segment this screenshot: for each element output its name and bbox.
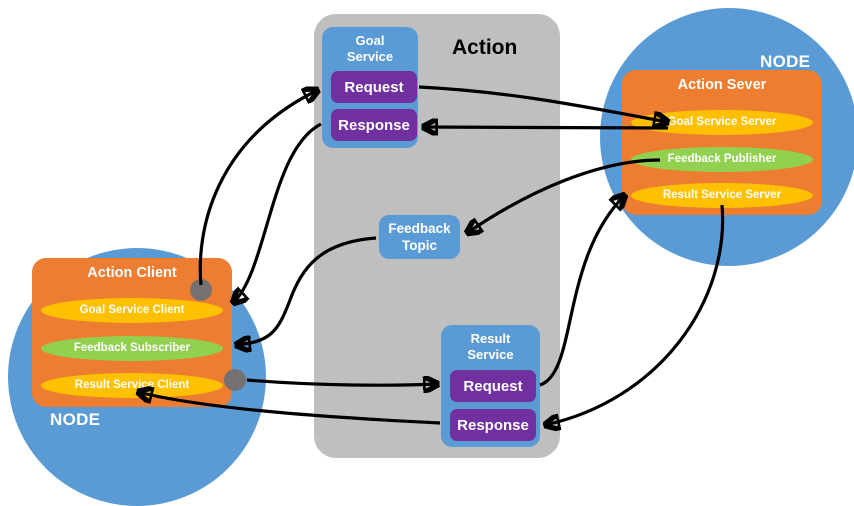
feedback-publisher-pill[interactable]: Feedback Publisher [631,147,813,172]
feedback-topic-line2: Topic [402,238,437,253]
action-server-node-label: NODE [760,52,810,72]
goal-service-request[interactable]: Request [331,71,417,103]
goal-service-title-line1: Goal [356,33,385,48]
result-service-title: Result Service [441,331,540,363]
action-server-title: Action Sever [622,77,822,93]
feedback-subscriber-pill[interactable]: Feedback Subscriber [41,336,223,361]
feedback-topic-label: Feedback Topic [388,220,450,254]
goal-client-connector-dot [190,279,212,301]
result-service-title-line2: Service [467,347,513,362]
result-client-connector-dot [224,369,246,391]
arrow-client-to-goal-request [200,90,318,285]
goal-service-response[interactable]: Response [331,109,417,141]
goal-service-title-line2: Service [347,49,393,64]
result-service-server-pill[interactable]: Result Service Server [631,183,813,208]
action-client-node-label: NODE [50,410,100,430]
goal-service-client-pill[interactable]: Goal Service Client [41,298,223,323]
arrow-goal-response-to-client [233,124,321,303]
goal-service-server-pill[interactable]: Goal Service Server [631,110,813,135]
result-service-box: Result Service Request Response [441,325,540,447]
goal-service-box: Goal Service Request Response [322,27,418,148]
result-service-request[interactable]: Request [450,370,536,402]
result-service-client-pill[interactable]: Result Service Client [41,373,223,398]
ros2-action-diagram: Action NODE Action Sever Goal Service Se… [0,0,854,480]
result-service-title-line1: Result [471,331,511,346]
action-panel-title: Action [452,36,517,60]
feedback-topic-box[interactable]: Feedback Topic [379,215,460,259]
result-service-response[interactable]: Response [450,409,536,441]
goal-service-title: Goal Service [322,33,418,65]
feedback-topic-line1: Feedback [388,221,450,236]
action-server-box: Action Sever Goal Service Server Feedbac… [622,70,822,215]
